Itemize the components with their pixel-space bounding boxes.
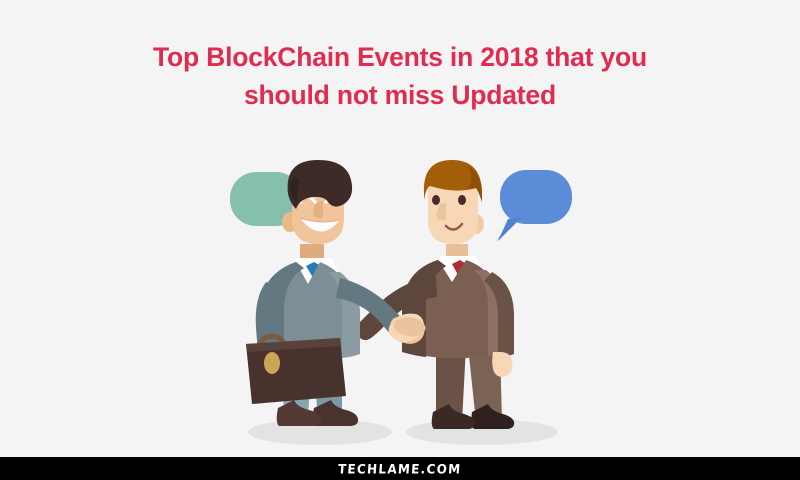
speech-bubble-blue-icon — [496, 170, 572, 242]
briefcase-clasp-icon — [264, 352, 280, 374]
site-watermark: TECHLAME.COM — [338, 461, 462, 476]
briefcase — [246, 334, 346, 404]
handshake-hands — [389, 314, 426, 344]
head-right-figure — [424, 160, 484, 244]
businessman-right — [356, 244, 515, 429]
right-eye-left — [432, 195, 440, 205]
right-hand-far — [492, 352, 512, 377]
head-left-figure — [282, 160, 352, 244]
handshake-illustration — [200, 160, 600, 450]
page-title-line-2: should not miss Updated — [95, 76, 705, 114]
poster-canvas: Top BlockChain Events in 2018 that you s… — [0, 0, 800, 480]
footer-bar: TECHLAME.COM — [0, 457, 800, 480]
page-title-line-1: Top BlockChain Events in 2018 that you — [95, 38, 705, 76]
page-title: Top BlockChain Events in 2018 that you s… — [0, 38, 800, 114]
right-eye-right — [458, 195, 466, 205]
